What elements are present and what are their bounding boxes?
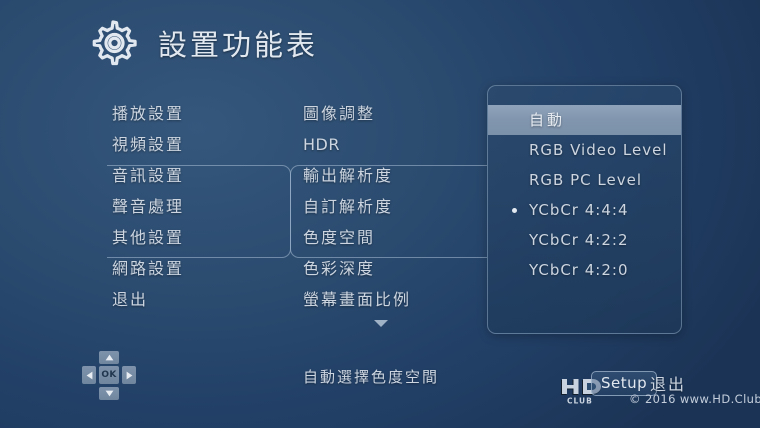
submenu-item-color-depth[interactable]: 色彩深度 [303,253,483,284]
submenu-item-aspect-ratio[interactable]: 螢幕畫面比例 [303,284,483,315]
option-item-ycbcr-422[interactable]: YCbCr 4:2:2 [488,225,681,255]
submenu-item-picture-adjust[interactable]: 圖像調整 [303,98,483,129]
option-label: YCbCr 4:2:2 [529,231,628,249]
chevron-down-icon[interactable] [374,320,388,327]
submenu-item-custom-resolution[interactable]: 自訂解析度 [303,191,483,222]
arrow-right-icon[interactable] [122,366,136,384]
option-panel: 自動 RGB Video Level RGB PC Level YCbCr 4:… [487,85,682,334]
option-item-ycbcr-420[interactable]: YCbCr 4:2:0 [488,255,681,285]
menu-item-other[interactable]: 其他設置 [112,222,282,253]
menu-item-audio[interactable]: 音訊設置 [112,160,282,191]
ok-button[interactable]: OK [99,366,119,384]
option-label: 自動 [529,111,565,129]
arrow-up-icon[interactable] [99,351,119,364]
copyright-text: © 2016 www.HD.Club.tw [629,392,760,406]
secondary-menu: 圖像調整 HDR 輸出解析度 自訂解析度 色度空間 色彩深度 螢幕畫面比例 [303,98,483,315]
option-item-rgb-video-level[interactable]: RGB Video Level [488,135,681,165]
settings-menu-screen: 設置功能表 播放設置 視頻設置 音訊設置 聲音處理 其他設置 網路設置 退出 圖… [0,0,760,428]
option-item-rgb-pc-level[interactable]: RGB PC Level [488,165,681,195]
menu-item-network[interactable]: 網路設置 [112,253,282,284]
gear-icon [88,18,138,68]
menu-item-sound[interactable]: 聲音處理 [112,191,282,222]
dpad-hint: OK [80,351,140,403]
primary-menu: 播放設置 視頻設置 音訊設置 聲音處理 其他設置 網路設置 退出 [112,98,282,315]
arrow-left-icon[interactable] [82,366,96,384]
arrow-down-icon[interactable] [99,387,119,400]
option-item-ycbcr-444[interactable]: YCbCr 4:4:4 [488,195,681,225]
submenu-item-output-resolution[interactable]: 輸出解析度 [303,160,483,191]
menu-item-exit[interactable]: 退出 [112,284,282,315]
menu-item-video[interactable]: 視頻設置 [112,129,282,160]
option-label: RGB PC Level [529,171,642,189]
svg-text:CLUB: CLUB [567,397,593,406]
option-list: 自動 RGB Video Level RGB PC Level YCbCr 4:… [488,105,681,285]
page-title: 設置功能表 [158,22,318,64]
submenu-item-color-space[interactable]: 色度空間 [303,222,483,253]
help-text: 自動選擇色度空間 [303,366,439,387]
option-label: RGB Video Level [529,141,668,159]
selected-bullet-icon [512,208,517,213]
header: 設置功能表 [88,18,318,68]
submenu-item-hdr[interactable]: HDR [303,129,483,160]
menu-item-playback[interactable]: 播放設置 [112,98,282,129]
option-label: YCbCr 4:2:0 [529,261,628,279]
option-label: YCbCr 4:4:4 [529,201,628,219]
option-item-auto[interactable]: 自動 [488,105,681,135]
